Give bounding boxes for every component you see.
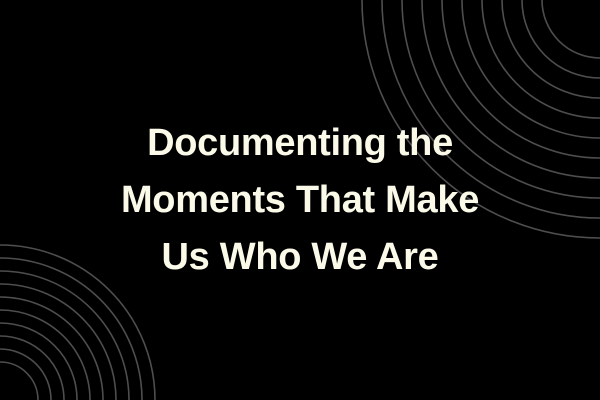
headline-block: Documenting the Moments That Make Us Who… <box>0 0 600 400</box>
headline-line-3: Us Who We Are <box>162 229 439 286</box>
quote-card: Documenting the Moments That Make Us Who… <box>0 0 600 400</box>
headline-line-1: Documenting the <box>147 115 453 172</box>
headline-line-2: Moments That Make <box>121 172 479 229</box>
